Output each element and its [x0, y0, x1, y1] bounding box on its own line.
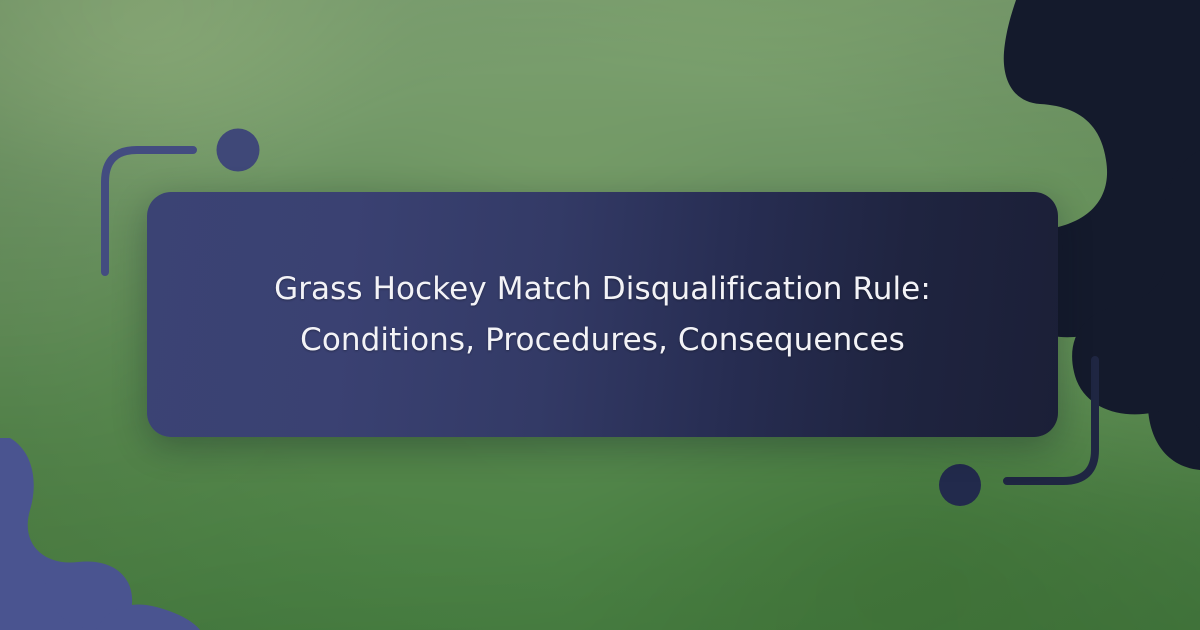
title-card: Grass Hockey Match Disqualification Rule…: [147, 192, 1058, 437]
social-card-canvas: Grass Hockey Match Disqualification Rule…: [0, 0, 1200, 630]
page-title: Grass Hockey Match Disqualification Rule…: [193, 264, 1012, 364]
